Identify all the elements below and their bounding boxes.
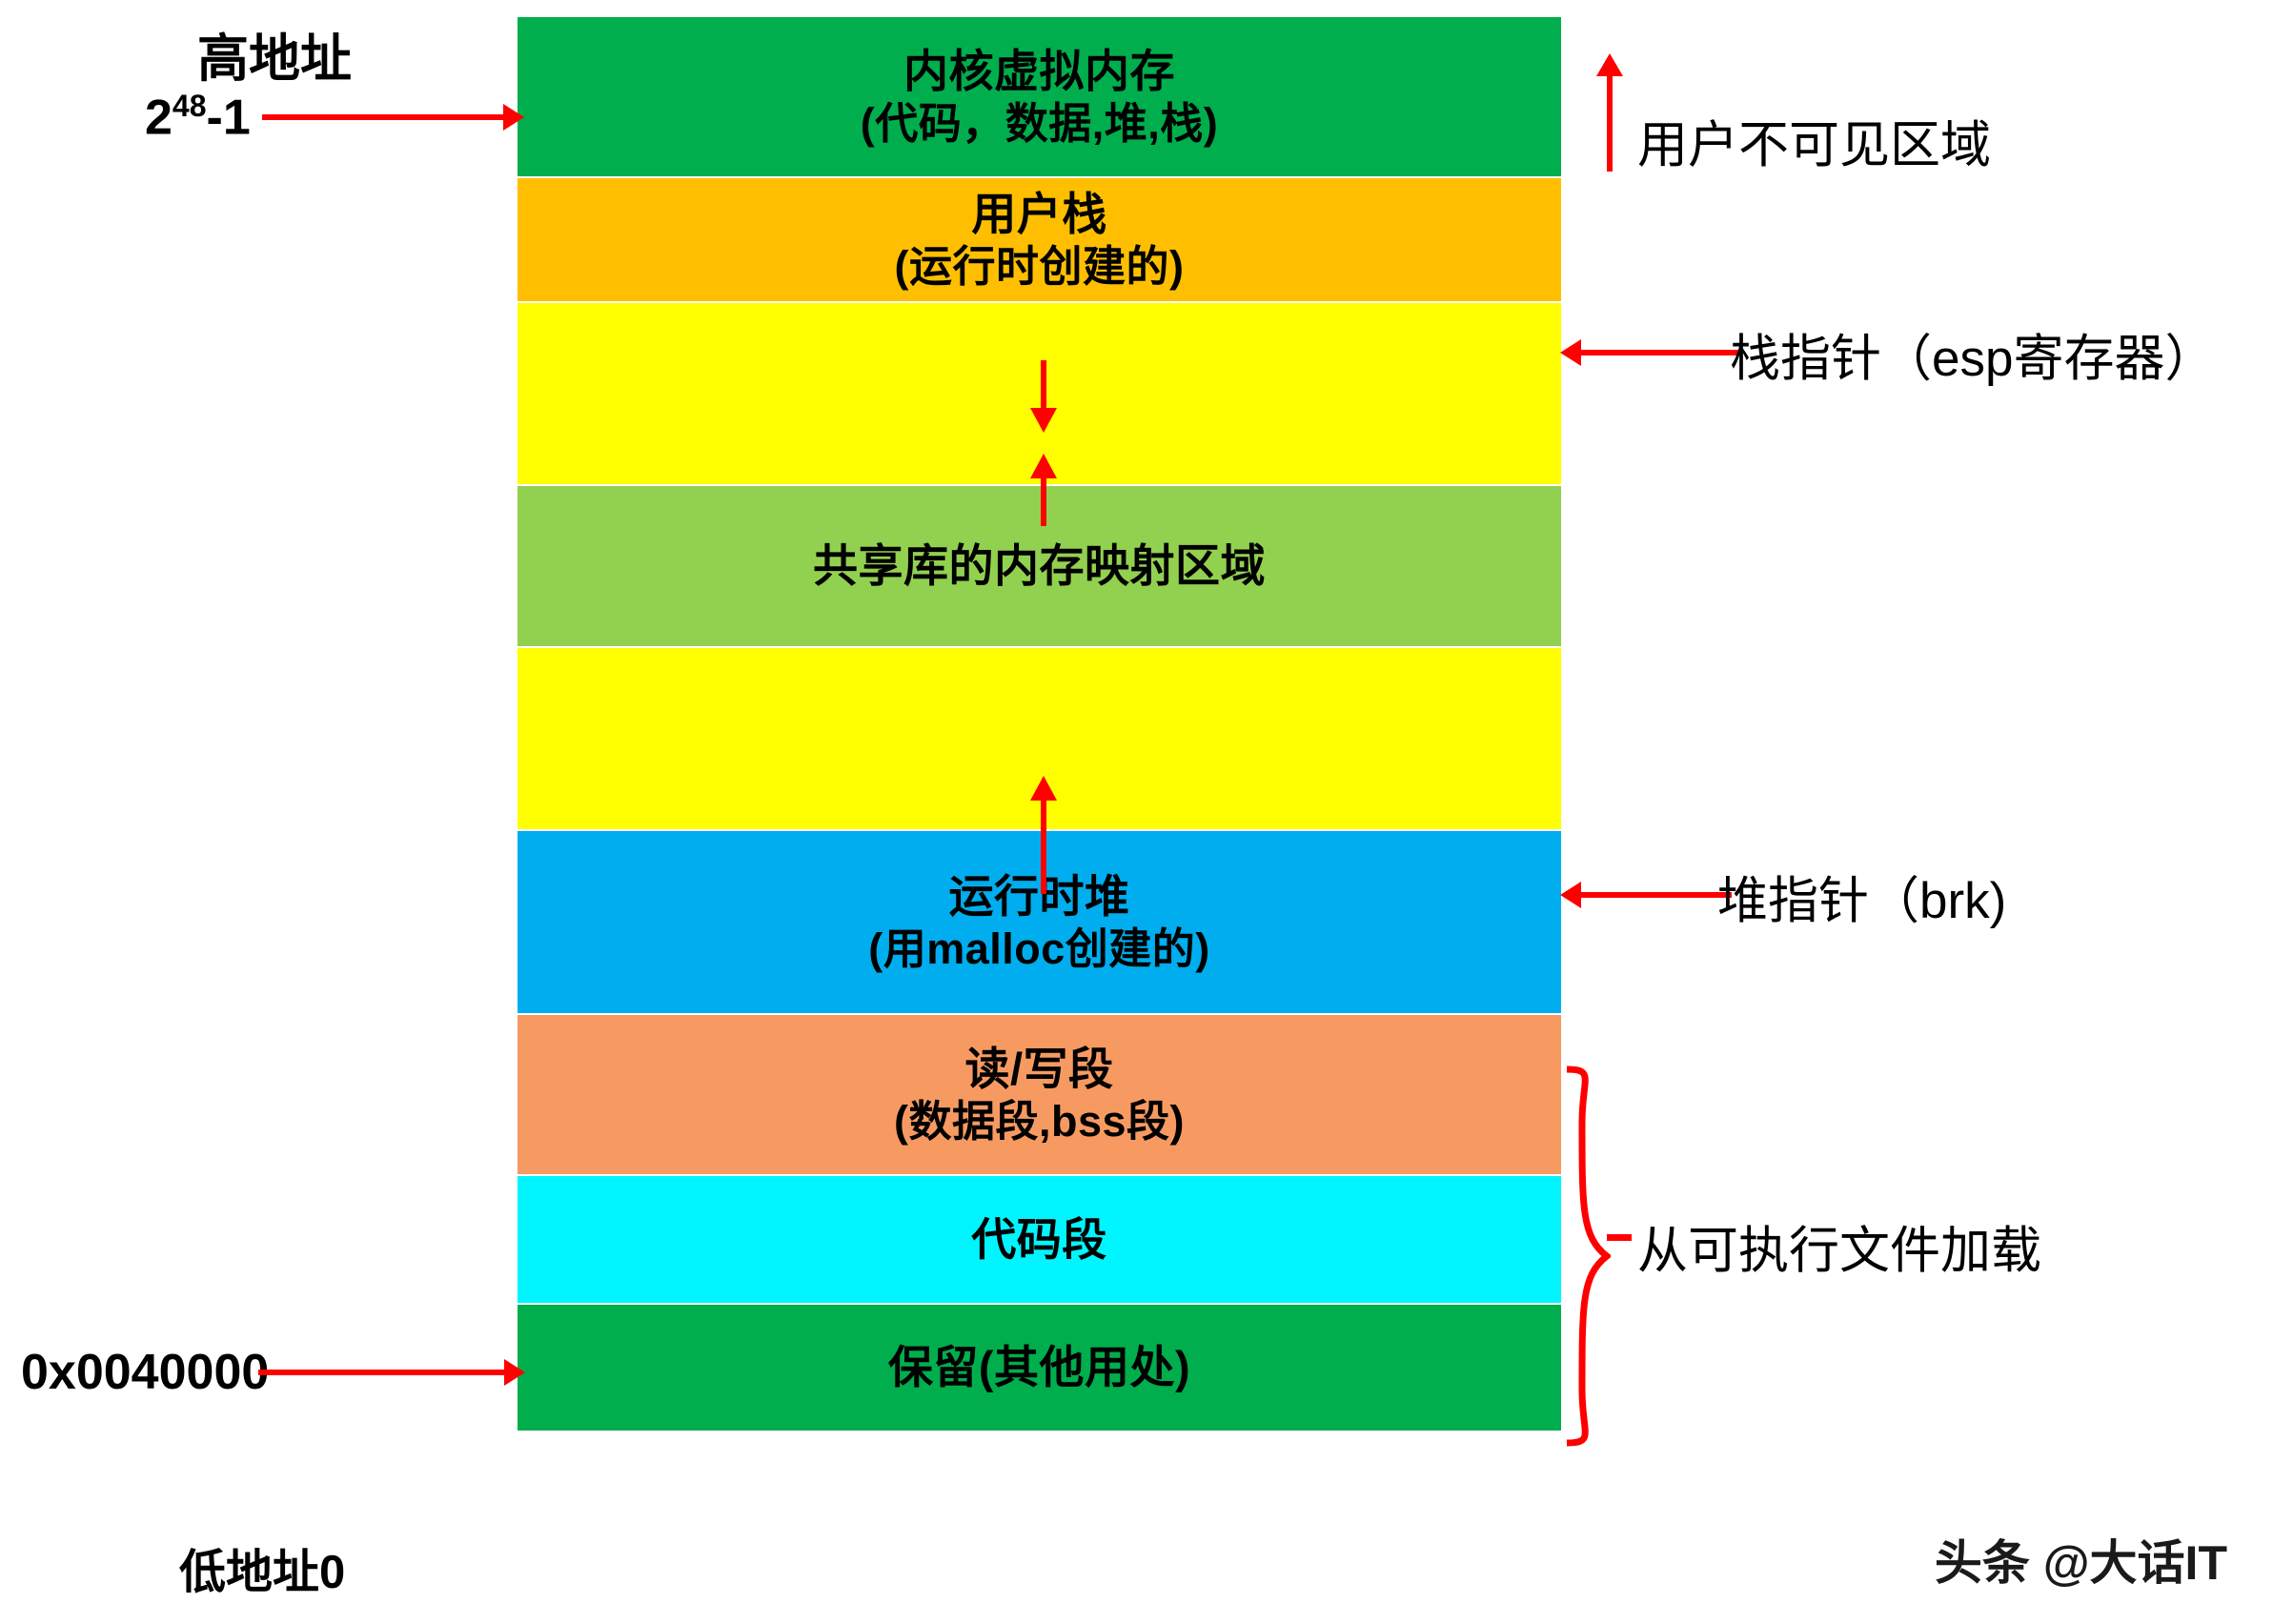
stack-growth-up-arrow-icon (1041, 477, 1046, 526)
segment-kernel-title: 内核虚拟内存 (903, 45, 1175, 97)
heap-growth-up-arrow-icon (1041, 799, 1046, 894)
segment-rw-subtitle: (数据段,bss段) (894, 1096, 1185, 1147)
heap-pointer-arrow-icon (1579, 892, 1732, 898)
label-heap-pointer: 堆指针（brk) (1717, 861, 2006, 933)
stack-growth-down-arrow-icon (1041, 360, 1046, 410)
segment-rw-title: 读/写段 (964, 1043, 1113, 1095)
label-top-address-base: 2 (145, 90, 173, 145)
segment-kernel-subtitle: (代码，数据,堆,栈) (861, 98, 1218, 149)
segment-user-stack-subtitle: (运行时创建的) (895, 241, 1185, 292)
code-start-pointer-arrow-icon (258, 1370, 506, 1375)
segment-reserved: 保留(其他用处) (518, 1305, 1561, 1431)
segment-shared-library-mapping: 共享库的内存映射区域 (518, 486, 1561, 648)
label-top-address-exponent: 48 (173, 89, 207, 123)
segment-text-title: 代码段 (971, 1213, 1107, 1266)
label-high-address: 高地址 (197, 16, 352, 91)
label-stack-pointer: 栈指针（esp寄存器） (1730, 318, 2215, 391)
user-invisible-up-arrow-icon (1607, 74, 1613, 172)
label-code-start-address: 0x0040000 (21, 1344, 269, 1401)
memory-column: 内核虚拟内存 (代码，数据,堆,栈) 用户栈 (运行时创建的) 共享库的内存映射… (518, 17, 1561, 1607)
label-user-invisible-region: 用户不可见区域 (1637, 105, 1991, 177)
segment-code-text: 代码段 (518, 1176, 1561, 1305)
top-address-pointer-arrow-icon (262, 114, 505, 120)
stack-pointer-arrow-icon (1579, 350, 1739, 355)
watermark: 头条 @大话IT (1935, 1525, 2227, 1594)
memory-layout-diagram: 内核虚拟内存 (代码，数据,堆,栈) 用户栈 (运行时创建的) 共享库的内存映射… (0, 0, 2273, 1624)
label-top-address: 248-1 (145, 89, 251, 146)
label-top-address-suffix: -1 (207, 90, 251, 145)
segment-heap-subtitle: (用malloc创建的) (868, 924, 1210, 974)
segment-user-stack-title: 用户栈 (971, 188, 1107, 240)
segment-heap-title: 运行时堆 (949, 870, 1130, 923)
segment-runtime-heap: 运行时堆 (用malloc创建的) (518, 831, 1561, 1015)
executable-brace-icon (1563, 1066, 1611, 1447)
executable-brace-tick-icon (1607, 1234, 1632, 1241)
segment-user-stack: 用户栈 (运行时创建的) (518, 178, 1561, 303)
segment-kernel-virtual-memory: 内核虚拟内存 (代码，数据,堆,栈) (518, 17, 1561, 178)
label-loaded-from-executable: 从可执行文件加载 (1637, 1210, 2041, 1283)
segment-gap-lower (518, 648, 1561, 831)
segment-reserved-title: 保留(其他用处) (888, 1341, 1190, 1393)
segment-shared-title: 共享库的内存映射区域 (813, 539, 1266, 592)
label-low-address: 低地址0 (179, 1534, 345, 1602)
segment-read-write-data: 读/写段 (数据段,bss段) (518, 1015, 1561, 1176)
